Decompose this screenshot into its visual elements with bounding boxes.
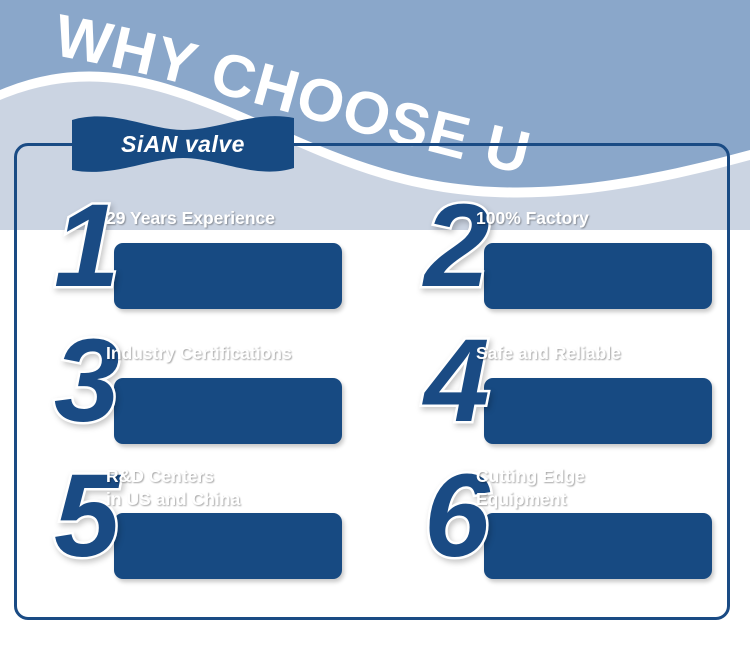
feature-label-2: 100% Factory <box>476 185 728 251</box>
feature-label-4: Safe and Reliable <box>476 320 728 386</box>
feature-bar-5 <box>114 513 342 579</box>
feature-label-1: 29 Years Experience <box>106 185 358 251</box>
brand-ribbon-label: SiAN valve <box>72 114 294 176</box>
feature-label-6-line2: Equipment <box>476 488 728 511</box>
feature-row-1: 1 29 Years Experience 2 100% Factory <box>0 185 750 320</box>
feature-item-4: 4 Safe and Reliable <box>418 320 738 455</box>
feature-label-3-line1: Industry Certifications <box>106 342 358 365</box>
feature-row-2: 3 Industry Certifications 4 Safe and Rel… <box>0 320 750 455</box>
why-choose-us-poster: WHY CHOOSE US!! SiAN valve 1 29 Years Ex… <box>0 0 750 649</box>
feature-bar-4 <box>484 378 712 444</box>
feature-label-1-line1: 29 Years Experience <box>106 207 358 230</box>
feature-label-5-line2: in US and China <box>106 488 358 511</box>
feature-label-5: R&D Centers in US and China <box>106 455 358 521</box>
brand-ribbon: SiAN valve <box>72 114 294 176</box>
feature-item-2: 2 100% Factory <box>418 185 738 320</box>
feature-item-6: 6 Cutting Edge Equipment <box>418 455 738 590</box>
feature-bar-1 <box>114 243 342 309</box>
feature-label-2-line1: 100% Factory <box>476 207 728 230</box>
feature-label-4-line1: Safe and Reliable <box>476 342 728 365</box>
feature-grid: 1 29 Years Experience 2 100% Factory <box>0 185 750 590</box>
feature-label-3: Industry Certifications <box>106 320 358 386</box>
feature-bar-6 <box>484 513 712 579</box>
feature-item-1: 1 29 Years Experience <box>48 185 368 320</box>
feature-item-5: 5 R&D Centers in US and China <box>48 455 368 590</box>
feature-bar-2 <box>484 243 712 309</box>
feature-label-5-line1: R&D Centers <box>106 465 358 488</box>
feature-label-6: Cutting Edge Equipment <box>476 455 728 521</box>
feature-item-3: 3 Industry Certifications <box>48 320 368 455</box>
feature-bar-3 <box>114 378 342 444</box>
feature-row-3: 5 R&D Centers in US and China 6 Cutting … <box>0 455 750 590</box>
feature-label-6-line1: Cutting Edge <box>476 465 728 488</box>
